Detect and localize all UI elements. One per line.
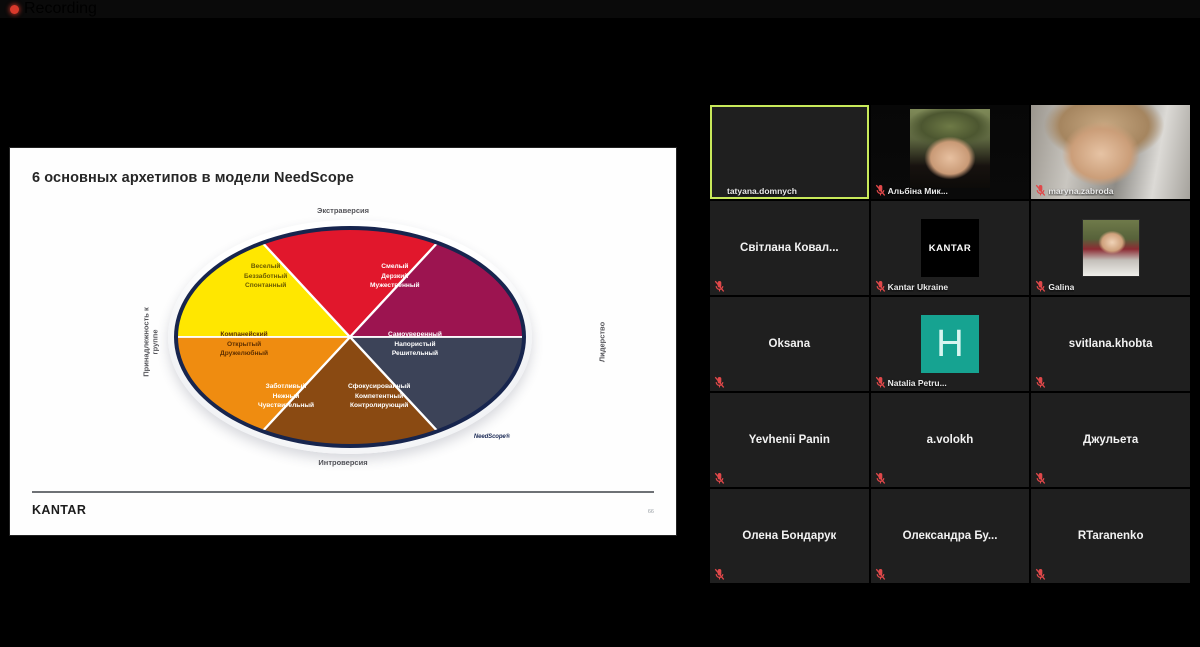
participant-tile[interactable]: Yevhenii Panin bbox=[710, 393, 869, 487]
participant-tile[interactable]: a.volokh bbox=[871, 393, 1030, 487]
wheel-segments bbox=[178, 230, 522, 444]
mute-icon bbox=[875, 280, 886, 293]
recording-bar: Recording bbox=[0, 0, 1200, 18]
mute-icon bbox=[1035, 184, 1046, 197]
avatar: KANTAR bbox=[921, 219, 979, 277]
axis-label-bottom: Интроверсия bbox=[318, 458, 367, 467]
participant-name: Galina bbox=[1048, 282, 1074, 292]
participant-name: Джульета bbox=[1077, 434, 1144, 446]
participant-tile[interactable]: Джульета bbox=[1031, 393, 1190, 487]
needscope-logo: NeedScope® bbox=[474, 434, 510, 440]
mute-icon bbox=[1035, 568, 1046, 581]
recording-dot-icon bbox=[10, 5, 19, 14]
participant-tile[interactable]: maryna.zabroda bbox=[1031, 105, 1190, 199]
participant-name: Kantar Ukraine bbox=[888, 282, 948, 292]
mute-icon bbox=[875, 472, 886, 485]
participant-name: RTaranenko bbox=[1072, 530, 1150, 542]
participant-name: Альбіна Мик... bbox=[888, 186, 948, 196]
slide-brand: KANTAR bbox=[32, 503, 86, 517]
avatar: H bbox=[921, 315, 979, 373]
participant-tile[interactable]: Світлана Ковал... bbox=[710, 201, 869, 295]
mute-icon bbox=[1035, 280, 1046, 293]
participant-tile[interactable]: svitlana.khobta bbox=[1031, 297, 1190, 391]
wheel-disc bbox=[174, 226, 526, 448]
mute-icon bbox=[1035, 472, 1046, 485]
mute-icon bbox=[875, 376, 886, 389]
participant-video bbox=[710, 105, 869, 199]
participant-video bbox=[871, 105, 1030, 199]
mute-icon bbox=[714, 472, 725, 485]
participant-tile[interactable]: Альбіна Мик... bbox=[871, 105, 1030, 199]
participant-name: a.volokh bbox=[921, 434, 980, 446]
mute-icon bbox=[875, 568, 886, 581]
participant-tile[interactable]: KANTARKantar Ukraine bbox=[871, 201, 1030, 295]
mute-icon bbox=[875, 184, 886, 197]
participant-name: Світлана Ковал... bbox=[734, 242, 845, 254]
slide-title: 6 основных архетипов в модели NeedScope bbox=[32, 170, 354, 186]
participant-video-frame bbox=[910, 109, 989, 188]
participant-grid: tatyana.domnychАльбіна Мик... maryna.zab… bbox=[710, 105, 1190, 583]
participant-tile[interactable]: Oksana bbox=[710, 297, 869, 391]
mute-icon bbox=[714, 568, 725, 581]
mute-icon bbox=[714, 280, 725, 293]
axis-label-right: Лидерство bbox=[598, 297, 607, 387]
participant-video bbox=[1031, 105, 1190, 199]
mute-icon bbox=[714, 376, 725, 389]
participant-name: maryna.zabroda bbox=[1048, 186, 1113, 196]
participant-name: Yevhenii Panin bbox=[743, 434, 836, 446]
avatar bbox=[1082, 219, 1140, 277]
recording-label: Recording bbox=[24, 0, 97, 18]
participant-tile[interactable]: tatyana.domnych bbox=[710, 105, 869, 199]
participant-name: Natalia Petru... bbox=[888, 378, 947, 388]
axis-label-left: Принадлежность кгруппе bbox=[142, 282, 159, 402]
participant-tile[interactable]: Олена Бондарук bbox=[710, 489, 869, 583]
participant-name: Олена Бондарук bbox=[736, 530, 842, 542]
slide-page-number: 66 bbox=[648, 509, 654, 515]
participant-tile[interactable]: HNatalia Petru... bbox=[871, 297, 1030, 391]
shared-slide[interactable]: 6 основных архетипов в модели NeedScope … bbox=[10, 148, 676, 535]
slide-divider bbox=[32, 491, 654, 493]
participant-tile[interactable]: RTaranenko bbox=[1031, 489, 1190, 583]
axis-label-top: Экстраверсия bbox=[317, 206, 369, 215]
mute-icon bbox=[1035, 376, 1046, 389]
participant-name: svitlana.khobta bbox=[1063, 338, 1159, 350]
participant-name: tatyana.domnych bbox=[727, 186, 797, 196]
participant-tile[interactable]: Олександра Бу... bbox=[871, 489, 1030, 583]
participant-name: Oksana bbox=[763, 338, 817, 350]
participant-name: Олександра Бу... bbox=[897, 530, 1004, 542]
meeting-screen: Recording 6 основных архетипов в модели … bbox=[0, 0, 1200, 647]
needscope-wheel: ВеселыйБеззаботныйСпонтанный СмелыйДерзк… bbox=[174, 226, 526, 448]
participant-tile[interactable]: Galina bbox=[1031, 201, 1190, 295]
